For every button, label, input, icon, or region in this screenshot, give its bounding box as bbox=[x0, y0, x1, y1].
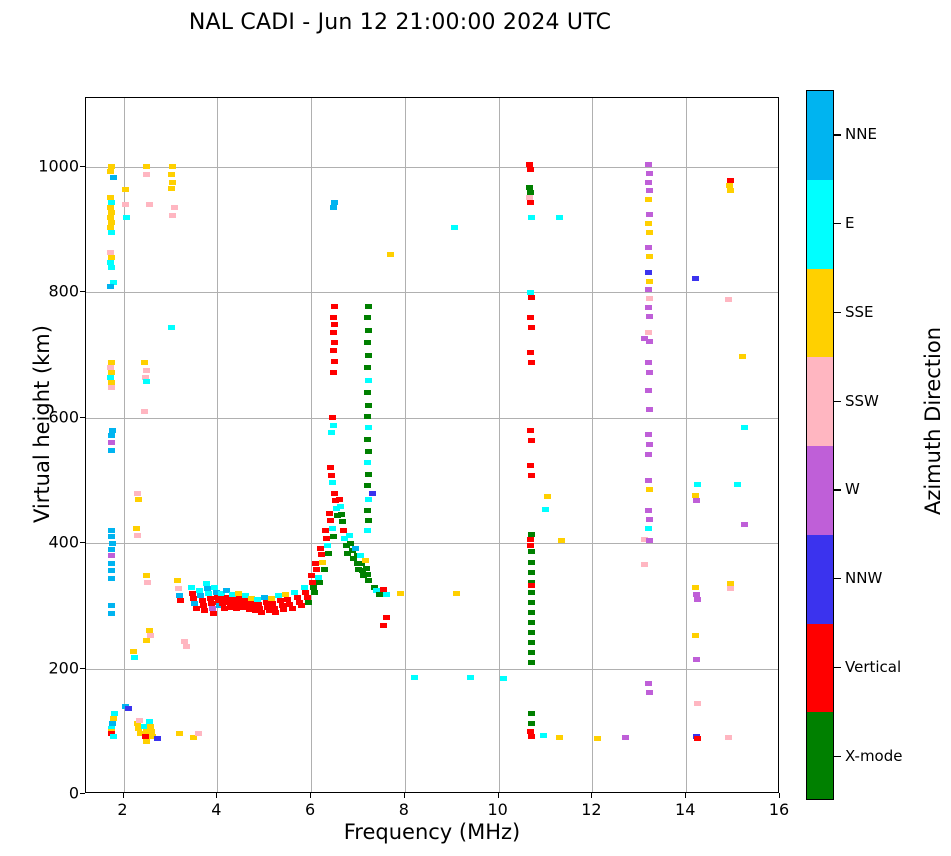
data-point bbox=[646, 407, 653, 412]
colorbar-label-e: E bbox=[845, 214, 854, 232]
data-point bbox=[694, 701, 701, 706]
data-point bbox=[364, 340, 371, 345]
data-point bbox=[528, 734, 535, 739]
data-point bbox=[542, 507, 549, 512]
data-point bbox=[144, 580, 151, 585]
data-point bbox=[108, 568, 115, 573]
data-point bbox=[646, 442, 653, 447]
colorbar-band-vertical bbox=[807, 624, 833, 713]
data-point bbox=[527, 428, 534, 433]
data-point bbox=[108, 385, 115, 390]
data-point bbox=[331, 340, 338, 345]
colorbar-tick bbox=[834, 401, 841, 402]
colorbar-tick bbox=[834, 667, 841, 668]
data-point bbox=[451, 225, 458, 230]
y-tick bbox=[80, 291, 85, 292]
data-point bbox=[183, 644, 190, 649]
data-point bbox=[725, 297, 732, 302]
colorbar-band-w bbox=[807, 446, 833, 535]
data-point bbox=[110, 734, 117, 739]
data-point bbox=[364, 365, 371, 370]
plot-area bbox=[85, 97, 779, 793]
x-tick bbox=[216, 793, 217, 798]
data-point bbox=[318, 552, 325, 557]
data-point bbox=[330, 534, 337, 539]
data-point bbox=[646, 279, 653, 284]
data-point bbox=[364, 414, 371, 419]
y-tick bbox=[80, 668, 85, 669]
data-point bbox=[133, 526, 140, 531]
data-point bbox=[365, 378, 372, 383]
gridline-vertical bbox=[592, 98, 593, 792]
data-point bbox=[383, 592, 390, 597]
data-point bbox=[645, 681, 652, 686]
data-point bbox=[169, 164, 176, 169]
data-point bbox=[141, 409, 148, 414]
data-point bbox=[169, 180, 176, 185]
data-point bbox=[739, 354, 746, 359]
data-point bbox=[364, 315, 371, 320]
data-point bbox=[330, 423, 337, 428]
data-point bbox=[694, 482, 701, 487]
data-point bbox=[387, 252, 394, 257]
colorbar-band-nnw bbox=[807, 535, 833, 624]
data-point bbox=[622, 735, 629, 740]
data-point bbox=[365, 403, 372, 408]
data-point bbox=[313, 567, 320, 572]
data-point bbox=[645, 245, 652, 250]
data-point bbox=[141, 360, 148, 365]
data-point bbox=[312, 561, 319, 566]
colorbar-label-nne: NNE bbox=[845, 125, 877, 143]
data-point bbox=[727, 188, 734, 193]
gridline-horizontal bbox=[86, 543, 778, 544]
colorbar-tick bbox=[834, 489, 841, 490]
data-point bbox=[108, 440, 115, 445]
data-point bbox=[328, 430, 335, 435]
x-tick-label: 4 bbox=[211, 800, 221, 819]
data-point bbox=[364, 572, 371, 577]
data-point bbox=[528, 549, 535, 554]
data-point bbox=[646, 171, 653, 176]
colorbar-label-x-mode: X-mode bbox=[845, 747, 902, 765]
x-tick-label: 8 bbox=[399, 800, 409, 819]
data-point bbox=[645, 287, 652, 292]
data-point bbox=[330, 205, 337, 210]
data-point bbox=[544, 494, 551, 499]
data-point bbox=[527, 167, 534, 172]
data-point bbox=[317, 546, 324, 551]
gridline-horizontal bbox=[86, 167, 778, 168]
x-tick bbox=[591, 793, 592, 798]
y-tick-label: 1000 bbox=[38, 156, 79, 175]
data-point bbox=[528, 295, 535, 300]
data-point bbox=[336, 497, 343, 502]
data-point bbox=[168, 172, 175, 177]
data-point bbox=[693, 657, 700, 662]
data-point bbox=[298, 603, 305, 608]
colorbar-band-x-mode bbox=[807, 712, 833, 800]
data-point bbox=[692, 585, 699, 590]
data-point bbox=[693, 498, 700, 503]
data-point bbox=[376, 592, 383, 597]
data-point bbox=[331, 359, 338, 364]
data-point bbox=[143, 379, 150, 384]
data-point bbox=[143, 368, 150, 373]
data-point bbox=[645, 305, 652, 310]
colorbar-band-nne bbox=[807, 91, 833, 180]
data-point bbox=[734, 482, 741, 487]
data-point bbox=[528, 711, 535, 716]
data-point bbox=[364, 390, 371, 395]
x-tick-label: 12 bbox=[581, 800, 601, 819]
data-point bbox=[528, 570, 535, 575]
data-point bbox=[645, 197, 652, 202]
colorbar bbox=[806, 90, 834, 800]
data-point bbox=[364, 528, 371, 533]
gridline-vertical bbox=[217, 98, 218, 792]
data-point bbox=[326, 511, 333, 516]
data-point bbox=[646, 254, 653, 259]
data-point bbox=[122, 187, 129, 192]
data-point bbox=[540, 733, 547, 738]
data-point bbox=[365, 353, 372, 358]
data-point bbox=[645, 526, 652, 531]
data-point bbox=[741, 425, 748, 430]
data-point bbox=[210, 611, 217, 616]
data-point bbox=[143, 573, 150, 578]
data-point bbox=[134, 533, 141, 538]
data-point bbox=[369, 491, 376, 496]
data-point bbox=[528, 473, 535, 478]
data-point bbox=[339, 519, 346, 524]
colorbar-tick bbox=[834, 756, 841, 757]
data-point bbox=[330, 315, 337, 320]
data-point bbox=[280, 607, 287, 612]
data-point bbox=[527, 463, 534, 468]
data-point bbox=[136, 718, 143, 723]
y-tick-label: 0 bbox=[69, 784, 79, 803]
data-point bbox=[725, 735, 732, 740]
data-point bbox=[233, 606, 240, 611]
data-point bbox=[352, 546, 359, 551]
data-point bbox=[109, 541, 116, 546]
data-point bbox=[272, 610, 279, 615]
data-point bbox=[364, 437, 371, 442]
data-point bbox=[108, 265, 115, 270]
data-point bbox=[527, 315, 534, 320]
data-point bbox=[594, 736, 601, 741]
y-axis-label: Virtual height (km) bbox=[30, 244, 54, 604]
data-point bbox=[641, 562, 648, 567]
data-point bbox=[169, 213, 176, 218]
data-point bbox=[646, 487, 653, 492]
data-point bbox=[527, 350, 534, 355]
data-point bbox=[177, 598, 184, 603]
data-point bbox=[146, 202, 153, 207]
colorbar-band-ssw bbox=[807, 357, 833, 446]
data-point bbox=[527, 543, 534, 548]
data-point bbox=[365, 328, 372, 333]
data-point bbox=[645, 360, 652, 365]
data-point bbox=[528, 590, 535, 595]
x-tick bbox=[685, 793, 686, 798]
y-tick-label: 200 bbox=[48, 658, 79, 677]
data-point bbox=[134, 491, 141, 496]
x-tick-label: 14 bbox=[675, 800, 695, 819]
data-point bbox=[108, 611, 115, 616]
data-point bbox=[528, 610, 535, 615]
x-tick bbox=[498, 793, 499, 798]
data-point bbox=[327, 465, 334, 470]
x-tick-label: 2 bbox=[117, 800, 127, 819]
data-point bbox=[176, 731, 183, 736]
data-point bbox=[363, 566, 370, 571]
data-point bbox=[321, 567, 328, 572]
data-point bbox=[329, 526, 336, 531]
data-point bbox=[330, 370, 337, 375]
data-point bbox=[727, 586, 734, 591]
data-point bbox=[528, 360, 535, 365]
data-point bbox=[316, 580, 323, 585]
data-point bbox=[175, 586, 182, 591]
data-point bbox=[645, 508, 652, 513]
data-point bbox=[645, 330, 652, 335]
data-point bbox=[641, 336, 648, 341]
data-point bbox=[168, 325, 175, 330]
data-point bbox=[528, 560, 535, 565]
data-point bbox=[108, 534, 115, 539]
data-point bbox=[645, 162, 652, 167]
data-point bbox=[645, 270, 652, 275]
colorbar-label-w: W bbox=[845, 480, 860, 498]
data-point bbox=[331, 304, 338, 309]
data-point bbox=[646, 314, 653, 319]
colorbar-label-sse: SSE bbox=[845, 303, 874, 321]
data-point bbox=[325, 551, 332, 556]
y-tick bbox=[80, 793, 85, 794]
data-point bbox=[258, 610, 265, 615]
data-point bbox=[528, 583, 535, 588]
data-point bbox=[331, 322, 338, 327]
data-point bbox=[108, 433, 115, 438]
data-point bbox=[154, 736, 161, 741]
data-point bbox=[364, 460, 371, 465]
data-point bbox=[135, 497, 142, 502]
data-point bbox=[365, 518, 372, 523]
data-point bbox=[694, 736, 701, 741]
data-point bbox=[108, 553, 115, 558]
data-point bbox=[527, 200, 534, 205]
data-point bbox=[331, 491, 338, 496]
data-point bbox=[556, 215, 563, 220]
data-point bbox=[645, 432, 652, 437]
data-point bbox=[365, 304, 372, 309]
x-tick bbox=[404, 793, 405, 798]
gridline-vertical bbox=[311, 98, 312, 792]
colorbar-tick bbox=[834, 578, 841, 579]
data-point bbox=[329, 415, 336, 420]
x-tick-label: 16 bbox=[769, 800, 789, 819]
data-point bbox=[193, 606, 200, 611]
data-point bbox=[365, 578, 372, 583]
data-point bbox=[453, 591, 460, 596]
data-point bbox=[308, 573, 315, 578]
x-tick bbox=[123, 793, 124, 798]
colorbar-label-vertical: Vertical bbox=[845, 658, 901, 676]
x-tick-label: 6 bbox=[305, 800, 315, 819]
data-point bbox=[528, 620, 535, 625]
data-point bbox=[110, 175, 117, 180]
data-point bbox=[528, 215, 535, 220]
y-tick bbox=[80, 542, 85, 543]
data-point bbox=[108, 448, 115, 453]
gridline-horizontal bbox=[86, 418, 778, 419]
data-point bbox=[328, 473, 335, 478]
data-point bbox=[131, 655, 138, 660]
colorbar-label-ssw: SSW bbox=[845, 392, 879, 410]
data-point bbox=[528, 660, 535, 665]
data-point bbox=[365, 472, 372, 477]
gridline-vertical bbox=[686, 98, 687, 792]
data-point bbox=[289, 606, 296, 611]
data-point bbox=[741, 522, 748, 527]
data-point bbox=[380, 623, 387, 628]
data-point bbox=[646, 212, 653, 217]
data-point bbox=[108, 547, 115, 552]
data-point bbox=[337, 504, 344, 509]
data-point bbox=[330, 348, 337, 353]
data-point bbox=[645, 452, 652, 457]
data-point bbox=[383, 615, 390, 620]
y-tick bbox=[80, 166, 85, 167]
data-point bbox=[143, 638, 150, 643]
colorbar-title: Azimuth Direction bbox=[921, 256, 945, 586]
x-tick-label: 10 bbox=[487, 800, 507, 819]
data-point bbox=[646, 538, 653, 543]
colorbar-tick bbox=[834, 223, 841, 224]
colorbar-band-e bbox=[807, 180, 833, 269]
data-point bbox=[397, 591, 404, 596]
data-point bbox=[692, 276, 699, 281]
data-point bbox=[330, 330, 337, 335]
gridline-horizontal bbox=[86, 292, 778, 293]
data-point bbox=[411, 675, 418, 680]
data-point bbox=[324, 543, 331, 548]
page-title: NAL CADI - Jun 12 21:00:00 2024 UTC bbox=[0, 10, 800, 35]
data-point bbox=[646, 370, 653, 375]
data-point bbox=[527, 537, 534, 542]
data-point bbox=[528, 650, 535, 655]
data-point bbox=[108, 561, 115, 566]
gridline-horizontal bbox=[86, 669, 778, 670]
scatter-canvas bbox=[86, 98, 778, 792]
data-point bbox=[322, 528, 329, 533]
data-point bbox=[319, 560, 326, 565]
data-point bbox=[171, 205, 178, 210]
data-point bbox=[122, 202, 129, 207]
x-axis-label: Frequency (MHz) bbox=[85, 820, 779, 844]
data-point bbox=[694, 597, 701, 602]
data-point bbox=[364, 508, 371, 513]
data-point bbox=[108, 603, 115, 608]
data-point bbox=[188, 585, 195, 590]
data-point bbox=[123, 215, 130, 220]
data-point bbox=[108, 576, 115, 581]
colorbar-tick bbox=[834, 134, 841, 135]
data-point bbox=[125, 706, 132, 711]
data-point bbox=[645, 388, 652, 393]
data-point bbox=[528, 640, 535, 645]
colorbar-label-nnw: NNW bbox=[845, 569, 882, 587]
data-point bbox=[365, 425, 372, 430]
data-point bbox=[558, 538, 565, 543]
colorbar-band-sse bbox=[807, 269, 833, 358]
gridline-vertical bbox=[499, 98, 500, 792]
y-tick bbox=[80, 417, 85, 418]
data-point bbox=[500, 676, 507, 681]
data-point bbox=[346, 533, 353, 538]
data-point bbox=[168, 186, 175, 191]
data-point bbox=[305, 600, 312, 605]
data-point bbox=[645, 478, 652, 483]
data-point bbox=[329, 480, 336, 485]
data-point bbox=[646, 296, 653, 301]
data-point bbox=[528, 600, 535, 605]
data-point bbox=[645, 221, 652, 226]
data-point bbox=[646, 690, 653, 695]
data-point bbox=[174, 578, 181, 583]
data-point bbox=[646, 188, 653, 193]
data-point bbox=[646, 230, 653, 235]
data-point bbox=[195, 731, 202, 736]
data-point bbox=[108, 528, 115, 533]
data-point bbox=[107, 284, 114, 289]
data-point bbox=[645, 180, 652, 185]
x-tick bbox=[310, 793, 311, 798]
gridline-vertical bbox=[405, 98, 406, 792]
data-point bbox=[362, 558, 369, 563]
data-point bbox=[143, 739, 150, 744]
data-point bbox=[692, 633, 699, 638]
ionogram-figure: NAL CADI - Jun 12 21:00:00 2024 UTC 2468… bbox=[0, 0, 951, 856]
data-point bbox=[327, 518, 334, 523]
data-point bbox=[556, 735, 563, 740]
data-point bbox=[365, 497, 372, 502]
data-point bbox=[467, 675, 474, 680]
data-point bbox=[108, 230, 115, 235]
data-point bbox=[365, 449, 372, 454]
data-point bbox=[201, 608, 208, 613]
data-point bbox=[323, 536, 330, 541]
data-point bbox=[528, 325, 535, 330]
data-point bbox=[338, 512, 345, 517]
data-point bbox=[143, 172, 150, 177]
data-point bbox=[311, 590, 318, 595]
data-point bbox=[364, 483, 371, 488]
data-point bbox=[528, 438, 535, 443]
data-point bbox=[528, 721, 535, 726]
data-point bbox=[528, 630, 535, 635]
data-point bbox=[646, 517, 653, 522]
colorbar-tick bbox=[834, 312, 841, 313]
x-tick bbox=[779, 793, 780, 798]
data-point bbox=[130, 649, 137, 654]
data-point bbox=[143, 164, 150, 169]
